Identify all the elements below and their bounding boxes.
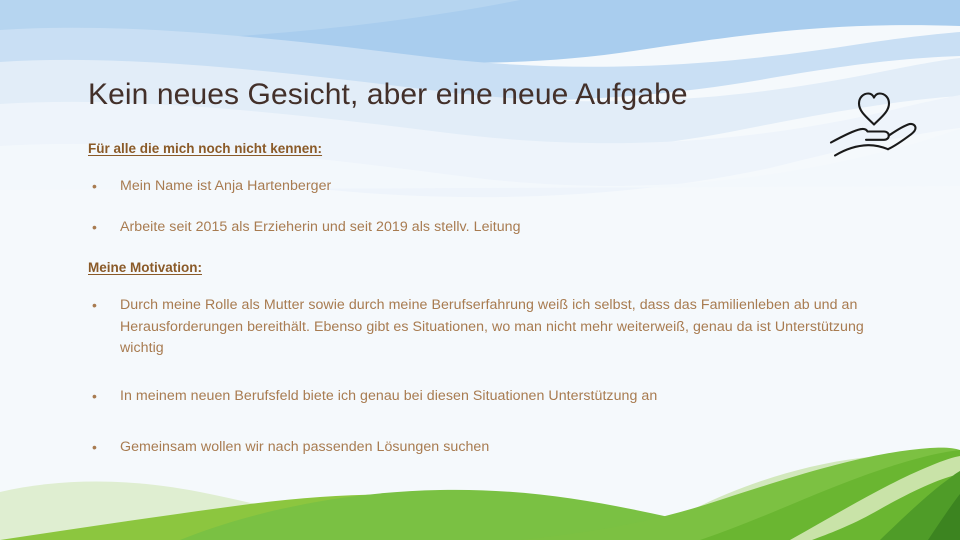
bullet-dot-icon: • xyxy=(88,295,120,316)
section-intro: Für alle die mich noch nicht kennen: • M… xyxy=(88,140,878,238)
hand-thumb xyxy=(888,124,915,149)
list-item: • Durch meine Rolle als Mutter sowie dur… xyxy=(88,295,878,360)
list-item-text: Arbeite seit 2015 als Erzieherin und sei… xyxy=(120,217,878,239)
hill-green-pale-left xyxy=(0,482,360,540)
slide-body: Für alle die mich noch nicht kennen: • M… xyxy=(88,140,878,478)
bullet-dot-icon: • xyxy=(88,217,120,238)
list-item-text: Mein Name ist Anja Hartenberger xyxy=(120,176,878,198)
list-item-text: In meinem neuen Berufsfeld biete ich gen… xyxy=(120,386,878,408)
bullet-dot-icon: • xyxy=(88,386,120,407)
list-item: • Mein Name ist Anja Hartenberger xyxy=(88,176,878,198)
bullet-dot-icon: • xyxy=(88,437,120,458)
heart-shape xyxy=(859,94,889,125)
hill-green-darkest-right xyxy=(928,494,960,540)
list-item-text: Gemeinsam wollen wir nach passenden Lösu… xyxy=(120,437,878,459)
wave-blue-dark xyxy=(0,0,960,63)
slide-title: Kein neues Gesicht, aber eine neue Aufga… xyxy=(88,76,808,114)
list-item: • Gemeinsam wollen wir nach passenden Lö… xyxy=(88,437,878,459)
section-heading-motivation: Meine Motivation: xyxy=(88,259,202,277)
bullet-dot-icon: • xyxy=(88,176,120,197)
list-item: • Arbeite seit 2015 als Erzieherin und s… xyxy=(88,217,878,239)
wave-blue-dark-2 xyxy=(0,0,520,56)
hill-green-dark-right xyxy=(880,471,960,540)
slide: Kein neues Gesicht, aber eine neue Aufga… xyxy=(0,0,960,540)
list-item-text: Durch meine Rolle als Mutter sowie durch… xyxy=(120,295,878,360)
hill-green-bright-main xyxy=(0,494,800,540)
section-motivation: Meine Motivation: • Durch meine Rolle al… xyxy=(88,259,878,459)
list-item: • In meinem neuen Berufsfeld biete ich g… xyxy=(88,386,878,408)
section-heading-intro: Für alle die mich noch nicht kennen: xyxy=(88,140,322,158)
hill-green-bright-mid xyxy=(180,490,820,540)
